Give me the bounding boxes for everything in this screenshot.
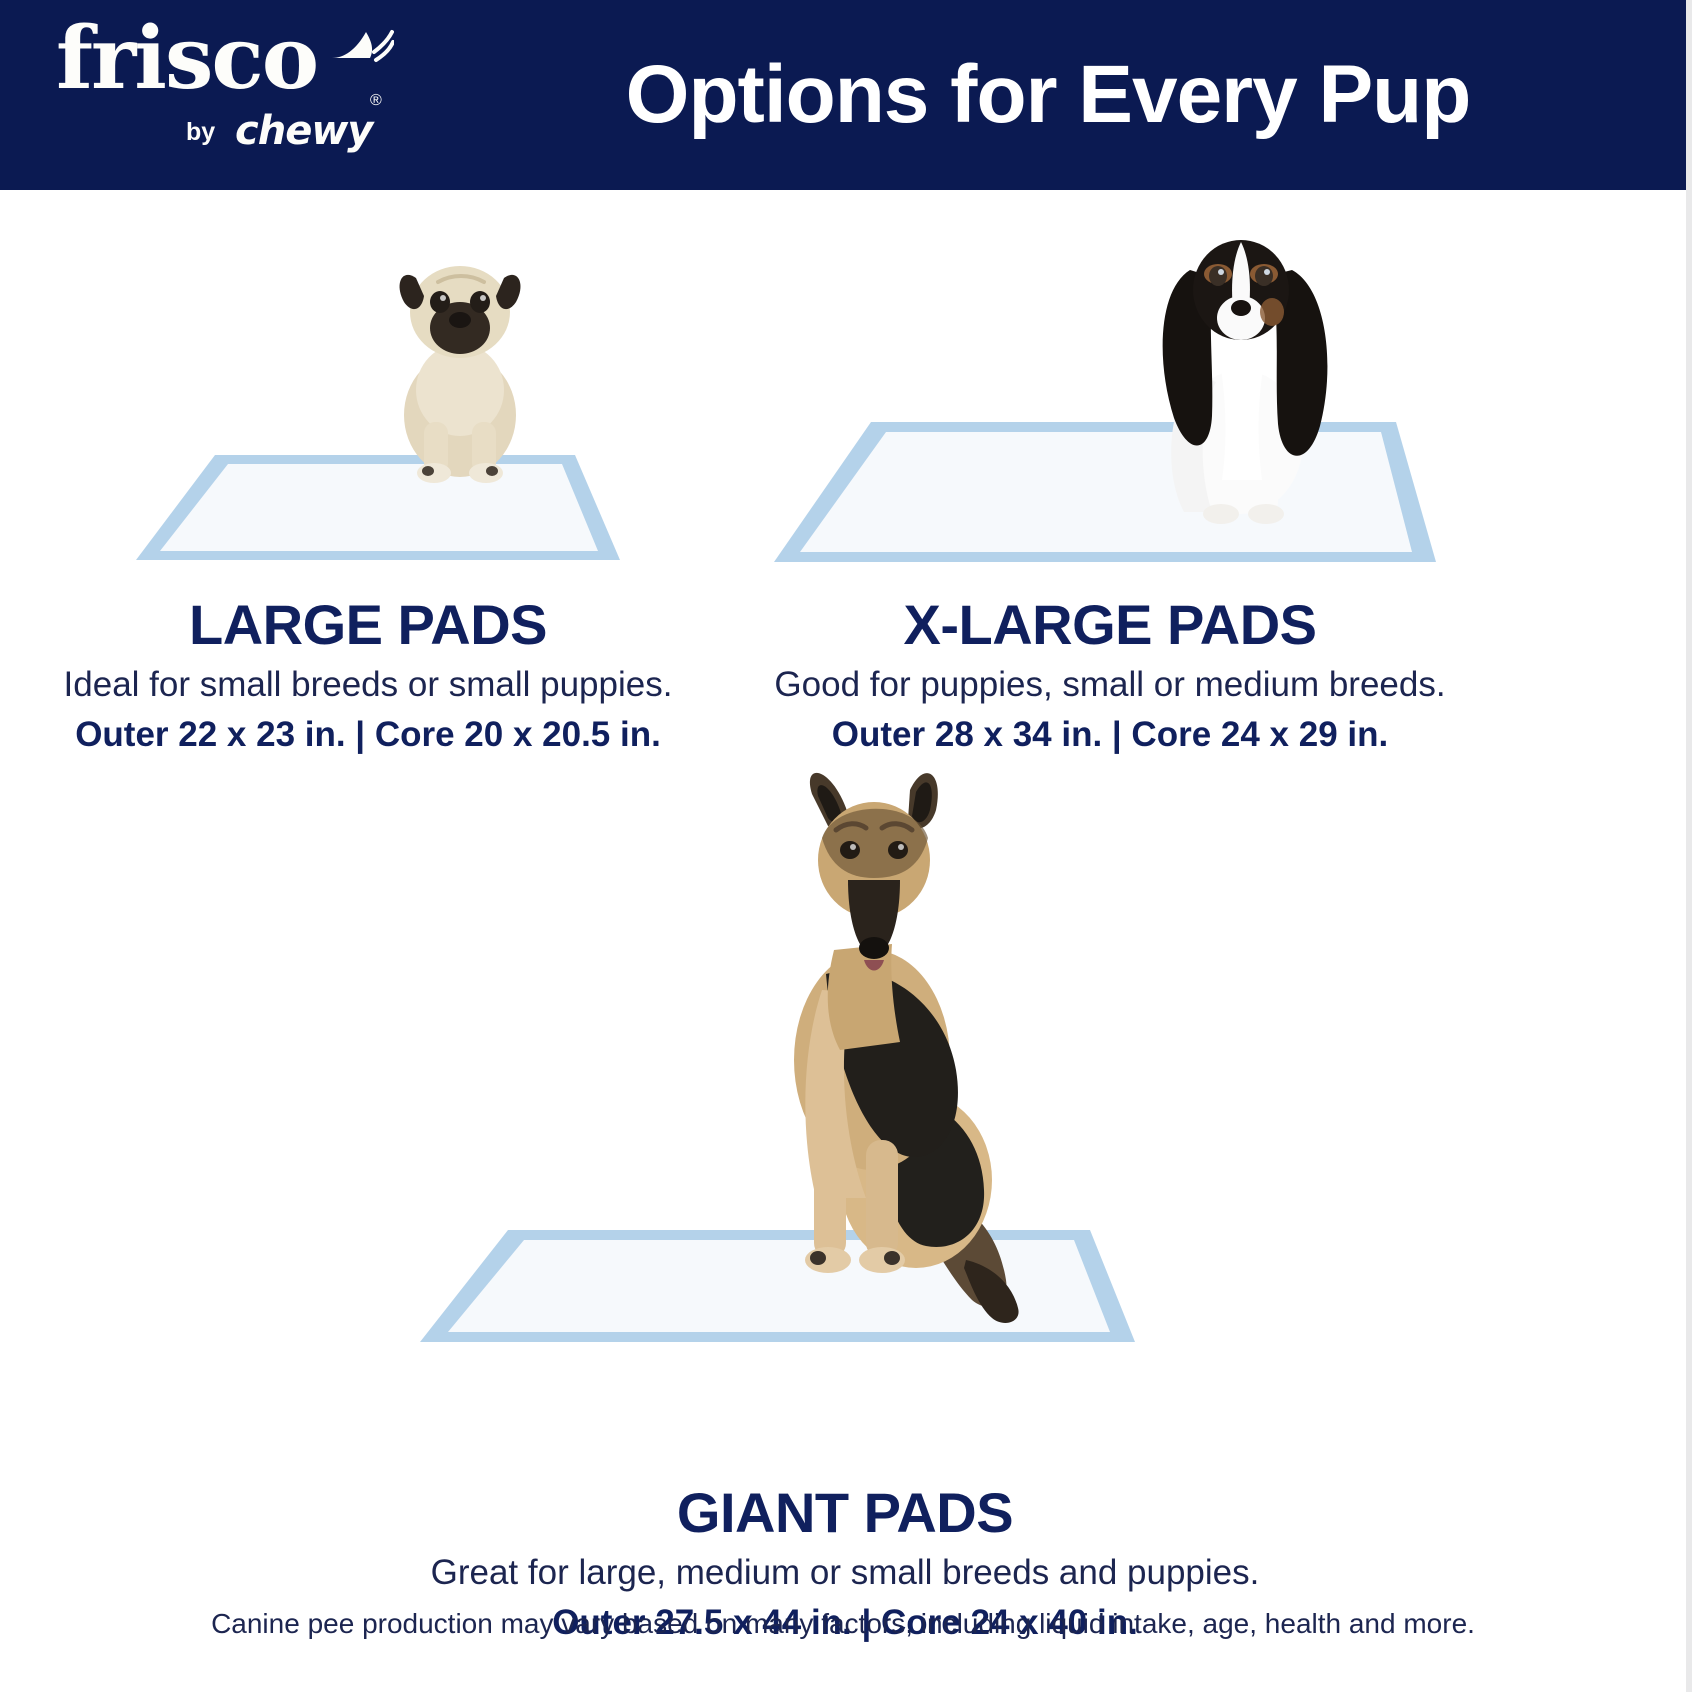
brand-logo-chewy: chewy bbox=[235, 108, 372, 154]
product-image-giant bbox=[400, 760, 1160, 1380]
product-description-giant: Great for large, medium or small breeds … bbox=[320, 1551, 1370, 1595]
frisco-tail-swoosh-icon bbox=[330, 28, 394, 64]
product-title-large: LARGE PADS bbox=[18, 596, 718, 655]
product-card-xlarge: X-LARGE PADS Good for puppies, small or … bbox=[730, 596, 1490, 756]
product-title-xlarge: X-LARGE PADS bbox=[730, 596, 1490, 655]
product-dimensions-xlarge: Outer 28 x 34 in. | Core 24 x 29 in. bbox=[730, 713, 1490, 757]
brand-logo: frisco ® by chewy bbox=[0, 0, 470, 190]
product-image-large bbox=[120, 240, 640, 570]
cavalier-spaniel-dog-image bbox=[1106, 212, 1376, 532]
disclaimer-footnote: Canine pee production may vary based on … bbox=[0, 1608, 1686, 1640]
brand-logo-wordmark: frisco bbox=[56, 16, 317, 102]
product-card-large: LARGE PADS Ideal for small breeds or sma… bbox=[18, 596, 718, 756]
product-description-large: Ideal for small breeds or small puppies. bbox=[18, 663, 718, 707]
page-header: frisco ® by chewy Options for Every Pup bbox=[0, 0, 1686, 190]
german-shepherd-dog-image bbox=[730, 760, 1060, 1340]
product-dimensions-large: Outer 22 x 23 in. | Core 20 x 20.5 in. bbox=[18, 713, 718, 757]
page-title: Options for Every Pup bbox=[470, 48, 1686, 142]
product-image-xlarge bbox=[756, 212, 1456, 572]
product-description-xlarge: Good for puppies, small or medium breeds… bbox=[730, 663, 1490, 707]
product-title-giant: GIANT PADS bbox=[320, 1484, 1370, 1543]
page-right-edge bbox=[1686, 0, 1692, 1692]
pug-dog-image bbox=[360, 240, 560, 500]
brand-logo-by: by bbox=[186, 118, 215, 147]
